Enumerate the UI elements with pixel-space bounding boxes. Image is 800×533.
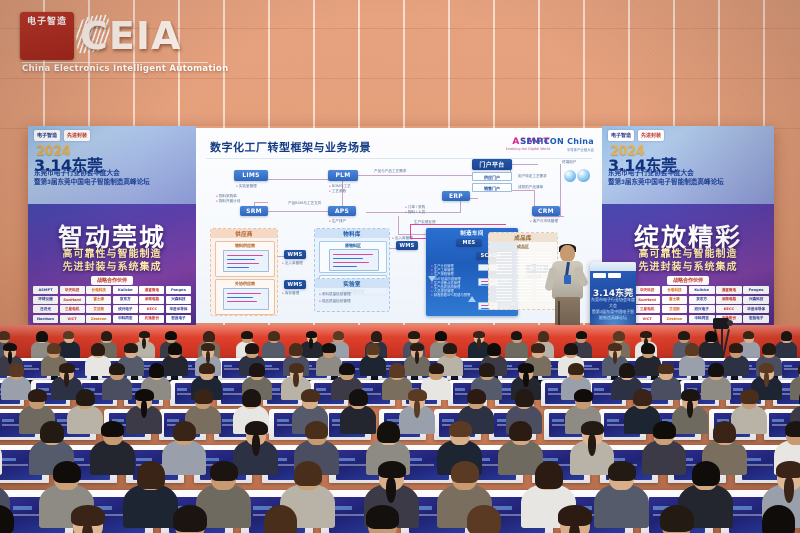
- audience-person-hair: [708, 363, 724, 377]
- subtitle-line: 暨第3届东莞中国电子智能制造高峰论坛: [608, 179, 768, 188]
- caption-crm: 客户与市场管理: [530, 219, 558, 224]
- audience-person-ponytail: [523, 372, 529, 387]
- sponsor-logo-cell: 中科同志: [689, 315, 715, 323]
- audience-person-ponytail: [252, 434, 260, 456]
- lectern-subtitle-line: 东莞市电子行业协会年度大会: [590, 297, 636, 309]
- audience-person-hair: [36, 331, 48, 342]
- audience-person-hair: [678, 331, 690, 340]
- audience-person-hair: [245, 343, 259, 354]
- audience-person-hair: [53, 461, 81, 483]
- ceia-tagline: China Electronics Intelligent Automation: [22, 64, 210, 74]
- audience-person-hair: [268, 331, 280, 341]
- audience-person-hair: [776, 461, 800, 478]
- supplier-mini-chart: [223, 250, 269, 272]
- audience-person-hair: [781, 331, 793, 341]
- audience-person-hair: [653, 421, 676, 439]
- audience-person-hair: [294, 461, 322, 486]
- audience-row: [0, 506, 800, 533]
- sponsor-logo-cell: 兴森科技: [166, 296, 191, 304]
- right-sponsor-title: 战略合作伙伴: [667, 276, 709, 285]
- audience-person-hair: [249, 363, 265, 377]
- audience-person-hair: [301, 389, 320, 402]
- caption-lims: 实验室管理: [236, 184, 257, 189]
- sponsor-logo-cell: 日月光: [33, 305, 58, 313]
- audience-person-hair: [76, 389, 95, 406]
- asmpt-logo-sub: Enabling the Digital World: [506, 147, 550, 151]
- node-plm: PLM: [328, 170, 358, 181]
- tagline-line: 高可靠性与智能制造: [28, 248, 196, 261]
- workshop-bullets: ● 生产计划管理● 生产工单管理● 生产排程管理● SMT贴装防错管理● 生产设…: [431, 264, 470, 298]
- node-erp: ERP: [442, 191, 470, 201]
- semicon-logo-sub: 半导体产业链大会: [567, 147, 594, 152]
- audience-person-ponytail: [764, 372, 770, 387]
- right-banner-logos: 电子智造 先进封装: [608, 130, 664, 141]
- sponsor-logo-cell: 宏昌电子: [166, 315, 191, 323]
- audience-person-hair: [149, 363, 165, 378]
- audience-person-hair: [443, 343, 457, 354]
- node-aps: APS: [328, 206, 356, 216]
- supplier-sub-2: 外协供应商: [215, 279, 275, 315]
- sponsor-logo-cell: Zestron: [662, 315, 688, 323]
- audience-person-hair: [619, 363, 635, 378]
- audience-person-hair: [740, 389, 759, 404]
- caption-srm-2: 物料齐套计划: [216, 199, 240, 204]
- audience-person-hair: [467, 389, 486, 404]
- audience-person-hair: [333, 331, 345, 340]
- audience-person-hair: [199, 363, 215, 374]
- audience-person-hair: [165, 331, 177, 340]
- audience-person-hair: [289, 343, 303, 356]
- node-portal-sales: 销售门户: [472, 183, 512, 192]
- audience-person-hair: [713, 421, 736, 443]
- node-wms-3: WMS: [396, 241, 418, 250]
- subtitle-line: 暨第3届东莞中国电子智能制造高峰论坛: [34, 179, 194, 188]
- left-banner-subtitle: 东莞市电子行业协会年度大会 暨第3届东莞中国电子智能制造高峰论坛: [34, 170, 194, 187]
- banner-chip: 先进封装: [638, 130, 664, 141]
- node-portal: 门户平台: [472, 159, 512, 170]
- sponsor-logo-cell: 三星电机: [60, 305, 85, 313]
- audience-person-hair: [581, 421, 604, 435]
- audience-person-hair: [349, 389, 368, 406]
- audience-person-hair: [173, 505, 207, 532]
- audience-person-hair: [47, 343, 61, 354]
- logo-divider: [22, 62, 208, 63]
- sponsor-logo-cell: Kulicke: [113, 286, 138, 294]
- tagline-line: 高可靠性与智能制造: [602, 248, 774, 261]
- audience-person-hair: [40, 421, 63, 443]
- sponsor-logo-cell: SunHard: [60, 296, 85, 304]
- audience-person-hair: [608, 461, 636, 481]
- audience-person-hair: [366, 505, 400, 529]
- sponsor-logo-cell: Nordson: [33, 315, 58, 323]
- caption-aps: 生产排产: [329, 219, 346, 224]
- sponsor-logo-cell: ASMPT: [33, 286, 58, 294]
- sponsor-logo-cell: 京东方: [113, 296, 138, 304]
- audience-person-hair: [168, 343, 182, 355]
- sponsor-logo-cell: 深南电路: [139, 296, 164, 304]
- sponsor-logo-cell: 华天科技: [634, 286, 660, 294]
- audience-person-ponytail: [293, 372, 299, 387]
- audience-person-hair: [535, 461, 563, 489]
- sponsor-logo-cell: VICT: [60, 315, 85, 323]
- sponsor-logo-cell: 华天科技: [60, 286, 85, 294]
- caption-link-6: 成熟的产品清单: [518, 185, 543, 190]
- storage-rack-icon: [516, 279, 532, 301]
- caption-link-5: 用户特定工艺需求: [518, 174, 547, 179]
- sponsor-logo-cell: 兴森科技: [743, 296, 769, 304]
- audience-person-hair: [28, 389, 47, 402]
- user-avatar-icon: [577, 169, 590, 182]
- workshop-bullet: ● 制程参数SPC防错与预警: [431, 293, 470, 297]
- chinese-seal-icon: 电子智造: [20, 12, 74, 60]
- subtitle-line: 东莞市电子行业协会年度大会: [608, 170, 768, 179]
- audience-person-hair: [576, 331, 588, 339]
- audience-person-hair: [264, 505, 298, 533]
- left-banner-logos: 电子智造 先进封装: [34, 130, 90, 141]
- sponsor-logo-cell: KECC: [139, 305, 164, 313]
- sponsor-logo-cell: Kulicke: [689, 286, 715, 294]
- storage-rack-icon: [496, 252, 512, 274]
- audience-person-hair: [101, 421, 124, 437]
- audience-person-hair: [0, 331, 10, 340]
- left-sponsor-title: 战略合作伙伴: [91, 276, 133, 285]
- audience-person-hair: [762, 343, 776, 355]
- sponsor-logo-cell: 长电科技: [86, 286, 111, 294]
- audience-person-hair: [531, 343, 545, 353]
- audience-person-hair: [194, 389, 213, 404]
- audience-person-hair: [305, 421, 328, 439]
- caption-wms-1: 出入库管理: [282, 261, 303, 266]
- sponsor-logo-cell: 欣兴电子: [113, 305, 138, 313]
- sponsor-logo-cell: SunHard: [634, 296, 660, 304]
- supplier-sub-2-label: 外协供应商: [216, 281, 274, 287]
- audience-person-hair: [515, 389, 534, 407]
- lectern-logos: [593, 273, 621, 278]
- group-material-title: 物料库: [315, 229, 389, 238]
- sponsor-logo-cell: Zestron: [86, 315, 111, 323]
- sponsor-logo-cell: 富士康: [662, 296, 688, 304]
- group-supplier-title: 供应商: [211, 229, 277, 238]
- audience-person-hair: [408, 389, 427, 401]
- audience-person-hair: [449, 421, 472, 437]
- audience-person-hair: [692, 461, 720, 486]
- audience-person-hair: [109, 363, 125, 375]
- caption-link-2: 产品BOM与工艺文件: [288, 201, 321, 206]
- flow-arrow-down-icon: [428, 276, 436, 282]
- audience-person-hair: [124, 343, 138, 353]
- flow-arrow-up-icon: [468, 296, 476, 302]
- user-avatar-icon: [564, 170, 576, 182]
- caption-erp-2: 物料 / 人员: [405, 210, 425, 215]
- storage-rack-icon: [516, 252, 532, 274]
- presenter-figure: [546, 245, 590, 331]
- led-video-wall: 电子智造 先进封装 2024 3.14东莞 东莞市电子行业协会年度大会 暨第3届…: [28, 126, 774, 325]
- node-portal-supply: 供应门户: [472, 172, 512, 181]
- audience-person-hair: [743, 331, 755, 339]
- sponsor-logo-cell: VICT: [634, 315, 660, 323]
- audience-person-hair: [377, 421, 400, 443]
- left-sponsor-grid: ASMPT华天科技长电科技Kulicke通富微电Pangea环球仪器SunHar…: [33, 286, 191, 323]
- sponsor-logo-cell: Pangea: [743, 286, 769, 294]
- banner-chip: 先进封装: [64, 130, 90, 141]
- audience-person-ponytail: [687, 400, 694, 418]
- audience-person-hair: [242, 389, 261, 407]
- audience-person-hair: [613, 331, 625, 341]
- group-finished-title: 成品库: [489, 233, 557, 242]
- audience-person-hair: [564, 343, 578, 355]
- audience-person-hair: [101, 331, 113, 341]
- audience-person-hair: [729, 343, 743, 353]
- sponsor-logo-cell: Pangea: [166, 286, 191, 294]
- sponsor-logo-cell: 艾法斯: [662, 305, 688, 313]
- audience-person-hair: [633, 389, 652, 406]
- conference-photo: 电子智造 CEIA China Electronics Intelligent …: [0, 0, 800, 533]
- sponsor-logo-cell: 环球仪器: [33, 296, 58, 304]
- audience-person-hair: [509, 421, 532, 441]
- node-srm: SRM: [240, 206, 268, 216]
- audience-person-hair: [91, 343, 105, 356]
- audience-person-hair: [574, 389, 593, 402]
- material-sub-1: 原物料区: [319, 241, 387, 273]
- caption-plm-2: 工艺参数: [329, 189, 346, 194]
- supplier-sub-1-label: 物料供应商: [216, 243, 274, 249]
- caption-wms-2: 库存管理: [282, 291, 299, 296]
- audience-person-hair: [487, 343, 501, 356]
- audience-person-hair: [429, 363, 445, 374]
- sponsor-logo-cell: 深南电路: [716, 296, 742, 304]
- audience-person-ponytail: [141, 400, 148, 418]
- ceia-watermark-logo: 电子智造 CEIA China Electronics Intelligent …: [14, 8, 210, 76]
- audience-person-hair: [658, 363, 674, 374]
- audience-person-hair: [63, 331, 75, 339]
- sponsor-logo-cell: 富士康: [86, 296, 111, 304]
- node-lims: LIMS: [234, 170, 268, 181]
- audience-person-hair: [210, 461, 238, 481]
- ceia-wordmark: CEIA: [80, 14, 181, 58]
- caption-link-7: 终端用户: [562, 160, 576, 165]
- audience-person-hair: [641, 343, 655, 354]
- presenter-head: [560, 245, 575, 262]
- caption-lab-1: 来料质量检验管理: [319, 292, 351, 297]
- material-mini-chart: [329, 249, 379, 271]
- sponsor-logo-cell: 通富微电: [139, 286, 164, 294]
- sponsor-logo-cell: 长电科技: [662, 286, 688, 294]
- group-supplier: 供应商 物料供应商 外协供应商: [210, 228, 278, 316]
- audience-person-hair: [660, 505, 694, 532]
- audience-person-hair: [538, 331, 550, 342]
- right-banner-subtitle: 东莞市电子行业协会年度大会 暨第3届东莞中国电子智能制造高峰论坛: [608, 170, 768, 187]
- caption-link-4: 生产实绩反馈: [414, 220, 436, 225]
- sponsor-logo-cell: 宏昌电子: [743, 315, 769, 323]
- lectern-top: [590, 262, 636, 271]
- caption-link-1: 产品与产品工艺需求: [374, 169, 406, 174]
- audience-person-hair: [306, 331, 318, 338]
- audience-person-hair: [389, 363, 405, 378]
- sponsor-logo-cell: 通富微电: [716, 286, 742, 294]
- audience-person-hair: [568, 363, 584, 375]
- audience-person-hair: [0, 505, 14, 533]
- audience-person-ponytail: [414, 400, 421, 418]
- supplier-mini-chart: [223, 288, 269, 310]
- presenter-badge: [564, 275, 571, 284]
- presentation-slide: 数字化工厂转型框架与业务场景 ASMPT Enabling the Digita…: [196, 128, 602, 323]
- audience-person-hair: [203, 331, 215, 342]
- audience-person-hair: [451, 461, 479, 483]
- audience-person-hair: [378, 461, 406, 478]
- storage-rack-icon: [496, 279, 512, 301]
- audience-person-hair: [371, 331, 383, 342]
- node-wms-2: WMS: [284, 280, 306, 289]
- caption-wms-3: 出入库管理: [392, 236, 413, 241]
- camera-lens-icon: [727, 320, 733, 326]
- audience-person-hair: [467, 505, 501, 533]
- supplier-sub-1: 物料供应商: [215, 241, 275, 277]
- banner-chip: 电子智造: [34, 130, 60, 141]
- sponsor-logo-cell: 欣兴电子: [689, 305, 715, 313]
- audience-person-hair: [339, 363, 355, 375]
- node-wms-1: WMS: [284, 250, 306, 259]
- audience-person-hair: [435, 331, 447, 341]
- group-lab-title: 实验室: [315, 279, 389, 288]
- slide-title: 数字化工厂转型框架与业务场景: [210, 139, 371, 155]
- audience-person-hair: [479, 363, 495, 377]
- audience-person-hair: [137, 461, 165, 489]
- sponsor-logo-cell: 三星电机: [634, 305, 660, 313]
- sponsor-logo-cell: 华进半导体: [166, 305, 191, 313]
- audience-person-hair: [241, 331, 253, 339]
- sponsor-logo-cell: KECC: [716, 305, 742, 313]
- node-mes: MES: [456, 239, 482, 247]
- node-crm: CRM: [532, 206, 560, 216]
- caption-lab-2: 成品质量检验管理: [319, 299, 351, 304]
- sponsor-logo-cell: 中科同志: [113, 315, 138, 323]
- sponsor-logo-cell: 兆驰股份: [139, 315, 164, 323]
- sponsor-logo-cell: 华进半导体: [743, 305, 769, 313]
- audience-person-hair: [511, 331, 523, 340]
- group-lab: 实验室 来料质量检验管理 成品质量检验管理: [314, 278, 390, 312]
- audience-person-hair: [408, 331, 420, 339]
- sponsor-logo-cell: 艾法斯: [86, 305, 111, 313]
- audience-person-hair: [705, 331, 717, 342]
- tagline-line: 先进封装与系统集成: [28, 261, 196, 274]
- audience-person-hair: [366, 343, 380, 355]
- left-event-banner: 电子智造 先进封装 2024 3.14东莞 东莞市电子行业协会年度大会 暨第3届…: [28, 126, 196, 325]
- audience-person-hair: [681, 389, 700, 401]
- semicon-logo: SEMICON China: [520, 137, 594, 146]
- subtitle-line: 东莞市电子行业协会年度大会: [34, 170, 194, 179]
- sponsor-logo-cell: 京东方: [689, 296, 715, 304]
- lectern: 3.14东莞 东莞市电子行业协会年度大会 暨第3届东莞中国电子智能制造高峰论坛: [590, 262, 636, 334]
- audience-person-hair: [685, 343, 699, 356]
- audience-person-hair: [762, 505, 796, 533]
- audience-person-hair: [173, 421, 196, 441]
- audience-person-hair: [135, 389, 154, 401]
- audience: [0, 330, 800, 533]
- audience-person-hair: [322, 343, 336, 353]
- slide-title-rule: [206, 158, 592, 159]
- audience-person-hair: [9, 363, 25, 377]
- left-banner-tagline: 高可靠性与智能制造 先进封装与系统集成: [28, 248, 196, 274]
- banner-chip: 电子智造: [608, 130, 634, 141]
- audience-person-hair: [785, 421, 800, 437]
- audience-person-ponytail: [588, 434, 596, 456]
